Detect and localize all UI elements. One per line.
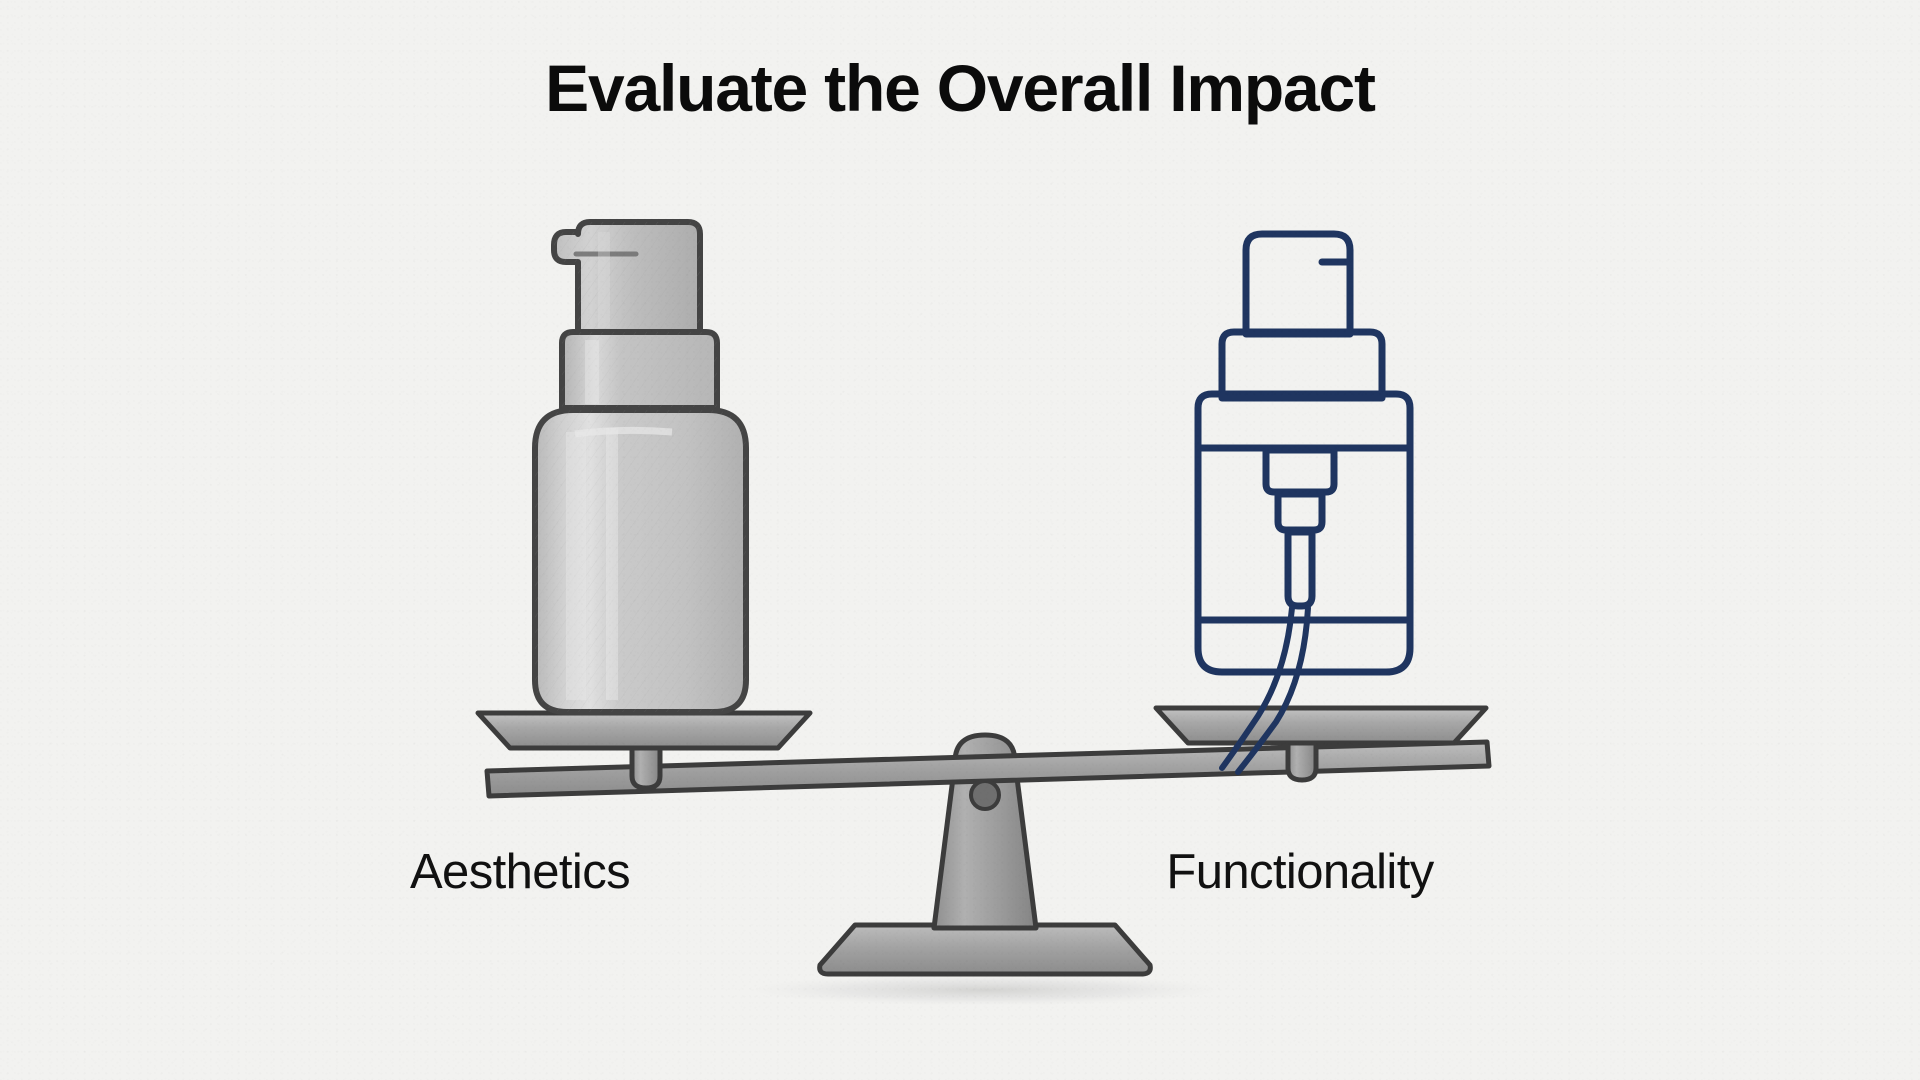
illustration-canvas: Evaluate the Overall Impact Aesthetics F… xyxy=(0,0,1920,1080)
bottle-functionality xyxy=(1198,234,1410,772)
pivot-dot xyxy=(971,781,999,809)
pan-label-functionality: Functionality xyxy=(1110,848,1490,897)
scale-base xyxy=(820,925,1151,974)
pan-label-aesthetics: Aesthetics xyxy=(370,848,670,897)
floor-shadow xyxy=(745,974,1225,1006)
right-pan xyxy=(1156,708,1486,743)
bottle-aesthetics xyxy=(535,222,746,712)
page-title: Evaluate the Overall Impact xyxy=(0,55,1920,121)
left-pan xyxy=(478,713,810,748)
balance-scale-illustration xyxy=(0,0,1920,1080)
